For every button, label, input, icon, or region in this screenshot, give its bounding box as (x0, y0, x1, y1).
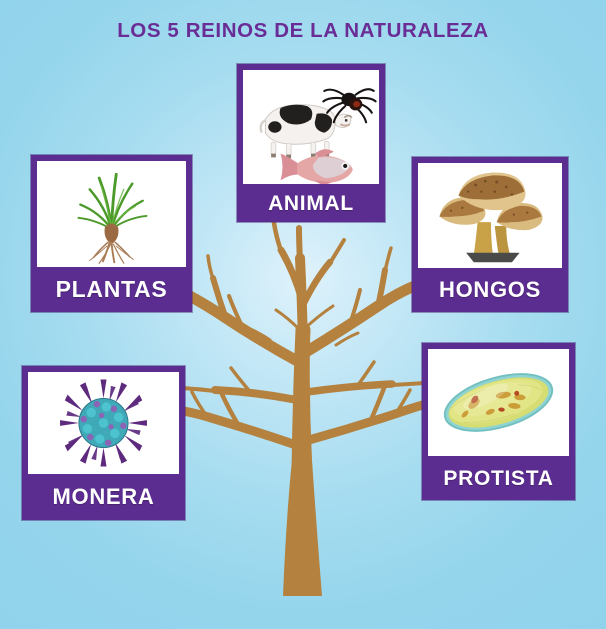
spiky-microbe-photo (28, 372, 179, 474)
kingdom-label-protista: PROTISTA (428, 456, 569, 500)
kingdom-card-hongos[interactable]: HONGOS (412, 157, 568, 312)
grass-plant-with-roots-photo (37, 161, 186, 267)
kingdom-card-monera[interactable]: MONERA (22, 366, 185, 520)
kingdom-label-hongos: HONGOS (418, 268, 562, 312)
kingdom-card-plantas[interactable]: PLANTAS (31, 155, 192, 312)
mushroom-cluster-photo (418, 163, 562, 268)
kingdom-label-monera: MONERA (28, 474, 179, 520)
cow-spider-fish-photo (243, 70, 379, 184)
kingdom-card-protista[interactable]: PROTISTA (422, 343, 575, 500)
paramecium-photo (428, 349, 569, 456)
kingdom-label-animal: ANIMAL (243, 184, 379, 222)
kingdom-card-animal[interactable]: ANIMAL (237, 64, 385, 222)
poster-canvas: LOS 5 REINOS DE LA NATURALEZA (0, 0, 606, 629)
kingdom-label-plantas: PLANTAS (37, 267, 186, 312)
